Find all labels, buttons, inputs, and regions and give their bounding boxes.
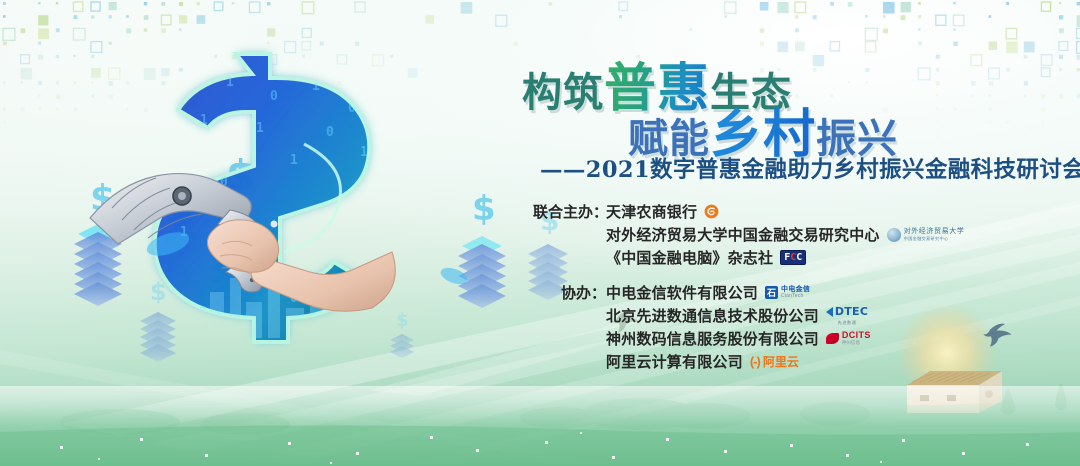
svg-text:1: 1 xyxy=(180,225,188,240)
event-banner: $ $ xyxy=(0,0,1080,466)
svg-text:1: 1 xyxy=(290,153,298,168)
svg-text:0: 0 xyxy=(290,291,298,306)
svg-text:0: 0 xyxy=(178,147,186,162)
coin-dollar-icon: $ xyxy=(396,310,409,331)
dtec-logo: DTEC 先进数通 xyxy=(826,306,868,325)
svg-text:0: 0 xyxy=(310,237,318,252)
svg-text:0: 0 xyxy=(326,125,334,140)
co-hosts-row-1: 联合主办： 天津农商银行 xyxy=(533,200,1073,223)
fcc-badge-logo: FCC xyxy=(780,250,806,265)
co-organizers-row-1: 协办： 中电金信软件有限公司 石 中电金信 CianTech xyxy=(533,281,1073,304)
svg-text:0: 0 xyxy=(182,83,190,98)
svg-text:1: 1 xyxy=(200,113,208,128)
uibe-seal-icon xyxy=(887,228,901,242)
dtec-logo-text: DTEC xyxy=(835,306,868,317)
svg-text:0: 0 xyxy=(348,101,356,116)
svg-text:1: 1 xyxy=(240,265,248,280)
fcc-logo-text: FCC xyxy=(780,250,806,265)
co-host-name-2: 对外经济贸易大学中国金融交易研究中心 xyxy=(606,224,880,245)
robot-joint xyxy=(173,187,191,205)
svg-text:1: 1 xyxy=(312,79,320,94)
field-flowers xyxy=(60,432,1029,464)
co-hosts-row-2: 对外经济贸易大学中国金融交易研究中心 对外经济贸易大学 中国金融交易研究中心 xyxy=(533,223,1073,246)
sponsor-block: 联合主办： 天津农商银行 对外经济贸易大学中国金融交易研究中心 对外经济贸易大学… xyxy=(533,200,1073,385)
dollar-sign-graphic: 010 101 100 110 101 011 xyxy=(155,54,370,342)
coin-stacks: $ $ xyxy=(74,151,568,362)
dcits-swoosh-icon xyxy=(826,333,839,344)
tjrcb-spiral-logo xyxy=(704,204,719,219)
co-organizers-label: 协办： xyxy=(533,282,606,303)
human-arm xyxy=(207,220,395,311)
svg-text:1: 1 xyxy=(226,75,234,90)
handshake-graphic xyxy=(90,174,395,312)
dcits-logo-text: DCITS xyxy=(842,331,871,340)
co-hosts-group: 联合主办： 天津农商银行 对外经济贸易大学中国金融交易研究中心 对外经济贸易大学… xyxy=(533,200,1073,269)
co-organizers-row-2: 北京先进数通信息技术股份公司 DTEC 先进数通 xyxy=(533,304,1073,327)
dtec-logo-subtext: 先进数通 xyxy=(838,321,857,325)
coin-dollar-icon: $ xyxy=(472,189,496,229)
dcits-logo: DCITS 神州信息 xyxy=(826,331,871,345)
citc-logo: 石 中电金信 CianTech xyxy=(765,286,810,299)
svg-text:1: 1 xyxy=(340,277,348,292)
co-hosts-row-3: 《中国金融电脑》杂志社 FCC xyxy=(533,246,1073,269)
svg-text:1: 1 xyxy=(360,145,368,160)
coin-dollar-icon: $ xyxy=(226,151,255,200)
coin-dollar-icon: $ xyxy=(150,278,167,306)
uibe-logo-subtext: 中国金融交易研究中心 xyxy=(904,237,965,241)
uibe-seal-logo: 对外经济贸易大学 中国金融交易研究中心 xyxy=(887,228,965,242)
event-subtitle: ——2021数字普惠金融助力乡村振兴金融科技研讨会 xyxy=(540,152,1080,184)
coin-dollar-icon: $ xyxy=(176,171,190,195)
citc-mark-icon: 石 xyxy=(765,286,778,299)
co-hosts-label: 联合主办： xyxy=(533,201,606,222)
co-organizers-row-4: 阿里云计算有限公司 (-) 阿里云 xyxy=(533,350,1073,373)
co-organizer-name-3: 神州数码信息服务股份有限公司 xyxy=(606,328,819,349)
co-organizers-row-3: 神州数码信息服务股份有限公司 DCITS 神州信息 xyxy=(533,327,1073,350)
meadow-field xyxy=(0,395,1080,466)
co-organizer-name-1: 中电金信软件有限公司 xyxy=(606,282,758,303)
co-host-name-1: 天津农商银行 xyxy=(606,201,697,222)
dtec-triangle-icon xyxy=(826,307,833,317)
co-organizer-name-2: 北京先进数通信息技术股份公司 xyxy=(606,305,819,326)
coin-dollar-icon: $ xyxy=(90,178,115,219)
aliyun-logo-text: 阿里云 xyxy=(763,353,799,370)
title-seg-gouzhu: 构筑 xyxy=(522,70,604,116)
citc-logo-subtext: CianTech xyxy=(781,294,810,299)
co-host-name-3: 《中国金融电脑》杂志社 xyxy=(606,247,773,268)
dcits-logo-subtext: 神州信息 xyxy=(842,341,871,345)
aliyun-mark-icon: (-) xyxy=(750,354,760,369)
tree-line xyxy=(60,398,870,435)
svg-text:1: 1 xyxy=(200,305,208,320)
svg-text:0: 0 xyxy=(270,89,278,104)
cypress-trees xyxy=(922,384,1067,415)
citc-logo-text: 中电金信 xyxy=(781,286,810,293)
svg-text:0: 0 xyxy=(220,175,228,190)
robot-arm xyxy=(90,174,267,292)
co-organizers-group: 协办： 中电金信软件有限公司 石 中电金信 CianTech 北京先进数通信息技… xyxy=(533,281,1073,373)
uibe-logo-text: 对外经济贸易大学 xyxy=(904,228,965,235)
svg-text:1: 1 xyxy=(256,121,264,136)
co-organizer-name-4: 阿里云计算有限公司 xyxy=(606,351,743,372)
glow-blobs xyxy=(144,228,470,288)
aliyun-logo: (-) 阿里云 xyxy=(750,353,799,370)
